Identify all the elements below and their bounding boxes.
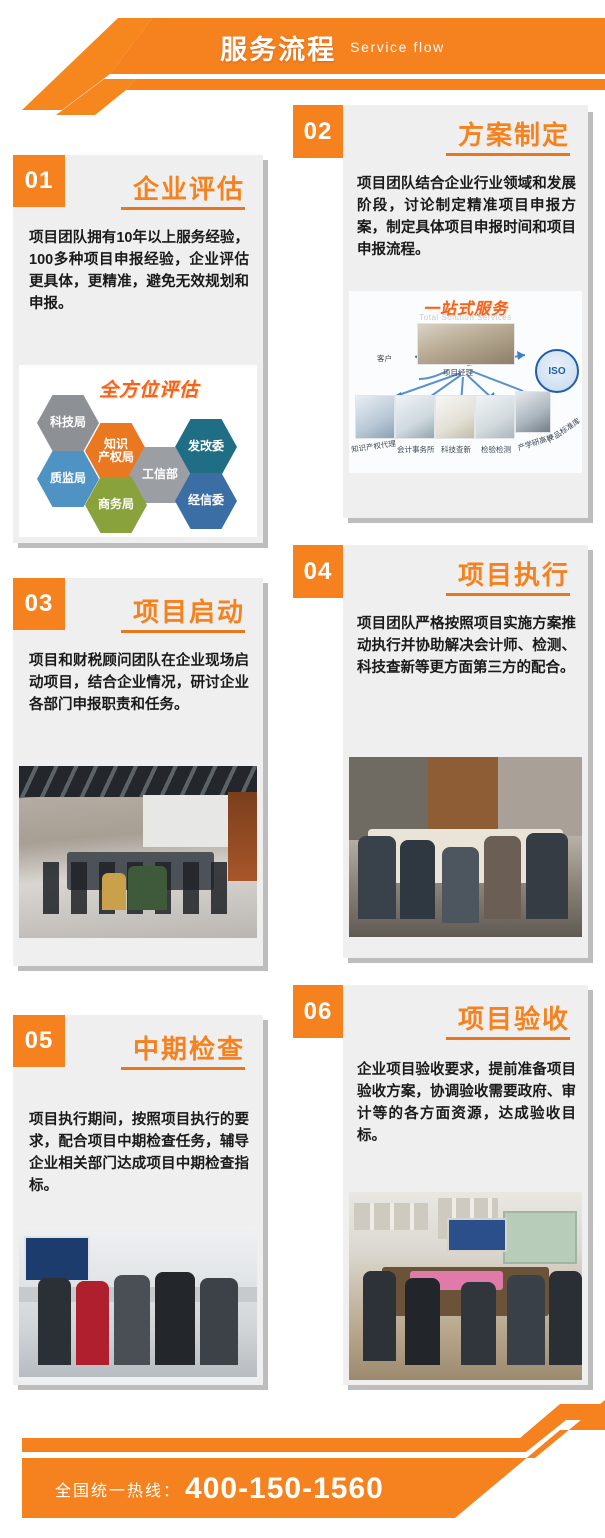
step-number-02: 02: [304, 118, 333, 146]
step-title-06: 项目验收: [458, 999, 570, 1036]
title-underline-01: [121, 207, 245, 210]
step-body-05: 项目执行期间，按照项目执行的要求，配合项目中期检查任务，辅导企业相关部门达成项目…: [29, 1109, 249, 1197]
title-underline-04: [446, 593, 570, 596]
oss-thumb-0: [355, 395, 395, 439]
one-stop-service-diagram: 一站式服务 Total Solution Services: [349, 291, 582, 473]
conference-discussion-photo: [349, 757, 582, 937]
step-number-badge-01: 01: [13, 155, 65, 207]
step-body-01: 项目团队拥有10年以上服务经验，100多种项目申报经验，企业评估更具体，更精准，…: [29, 227, 249, 315]
title-underline-02: [446, 153, 570, 156]
oss-thumb-4: [515, 391, 551, 433]
title-underline-05: [121, 1067, 245, 1070]
step-number-badge-02: 02: [293, 105, 343, 158]
step-number-03: 03: [25, 590, 54, 618]
step-number-01: 01: [25, 167, 54, 195]
oss-hero-photo: [417, 323, 515, 365]
step-number-04: 04: [304, 558, 333, 586]
header-shape: [0, 0, 605, 115]
step-body-04: 项目团队严格按照项目实施方案推动执行并协助解决会计师、检测、科技查新等更方面第三…: [357, 613, 576, 679]
hexagon-assessment-diagram: 全方位评估 科技局 知识产权局 发改委 质监局 工信部 商务局 经信委: [19, 365, 257, 537]
title-underline-06: [446, 1037, 570, 1040]
step-number-badge-03: 03: [13, 578, 65, 630]
step-title-03: 项目启动: [133, 592, 245, 629]
step-title-01: 企业评估: [133, 169, 245, 206]
footer-shape: [0, 1400, 605, 1538]
step-title-02: 方案制定: [458, 115, 570, 152]
step-card-01[interactable]: 01 企业评估 项目团队拥有10年以上服务经验，100多种项目申报经验，企业评估…: [13, 155, 263, 543]
step-number-badge-05: 05: [13, 1015, 65, 1067]
step-body-03: 项目和财税顾问团队在企业现场启动项目，结合企业情况，研讨企业各部门申报职责和任务…: [29, 650, 249, 716]
oss-certification-seal: ISO: [535, 349, 579, 393]
oss-caption-2: 科技查新: [441, 444, 471, 455]
site-visit-photo: [19, 1227, 257, 1377]
step-title-05: 中期检查: [133, 1029, 245, 1066]
step-number-06: 06: [304, 998, 333, 1026]
step-title-04: 项目执行: [458, 555, 570, 592]
step-card-03[interactable]: 03 项目启动 项目和财税顾问团队在企业现场启动项目，结合企业情况，研讨企业各部…: [13, 578, 263, 966]
step-card-05[interactable]: 05 中期检查 项目执行期间，按照项目执行的要求，配合项目中期检查任务，辅导企业…: [13, 1015, 263, 1385]
meeting-room-photo: [19, 766, 257, 938]
oss-node-manager: 项目经理: [443, 367, 473, 378]
step-number-05: 05: [25, 1027, 54, 1055]
oss-node-customer: 客户: [377, 353, 392, 364]
footer-hotline-banner: 全国统一热线： 400-150-1560: [0, 1400, 605, 1538]
oss-thumb-1: [395, 395, 435, 439]
oss-caption-1: 会计事务所: [397, 444, 435, 455]
hex-diagram-heading: 全方位评估: [99, 375, 199, 402]
title-underline-03: [121, 630, 245, 633]
acceptance-meeting-photo: [349, 1192, 582, 1380]
service-flow-poster: 服务流程 Service flow 01 企业评估 项目团队拥有10年以上服务经…: [0, 0, 605, 1538]
oss-thumb-2: [435, 395, 475, 439]
step-card-06[interactable]: 06 项目验收 企业项目验收要求，提前准备项目验收方案，协调验收需要政府、审计等…: [343, 985, 588, 1385]
step-number-badge-04: 04: [293, 545, 343, 598]
step-body-06: 企业项目验收要求，提前准备项目验收方案，协调验收需要政府、审计等的各方面资源，达…: [357, 1059, 576, 1147]
oss-thumb-3: [475, 395, 515, 439]
step-number-badge-06: 06: [293, 985, 343, 1038]
step-card-04[interactable]: 04 项目执行 项目团队严格按照项目实施方案推动执行并协助解决会计师、检测、科技…: [343, 545, 588, 958]
step-body-02: 项目团队结合企业行业领域和发展阶段，讨论制定精准项目申报方案，制定具体项目申报时…: [357, 173, 576, 261]
step-card-02[interactable]: 02 方案制定 项目团队结合企业行业领域和发展阶段，讨论制定精准项目申报方案，制…: [343, 105, 588, 518]
oss-caption-3: 检验检测: [481, 444, 511, 455]
header-banner: 服务流程 Service flow: [0, 0, 605, 112]
